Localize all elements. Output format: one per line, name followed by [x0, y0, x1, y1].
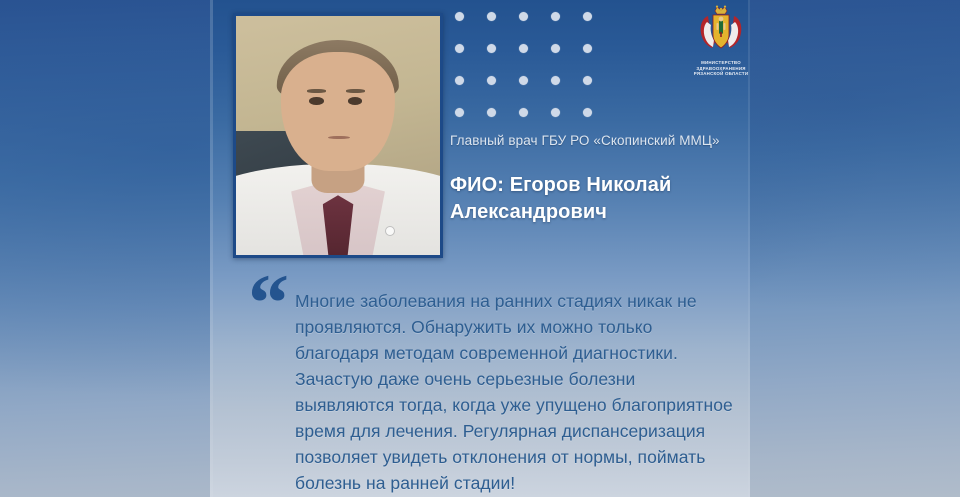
person-name: ФИО: Егоров Николай Александрович — [450, 172, 730, 226]
grid-dot — [551, 44, 560, 53]
grid-dot — [519, 108, 528, 117]
grid-dot — [487, 44, 496, 53]
emblem-line-3: РЯЗАНСКОЙ ОБЛАСТИ — [687, 71, 750, 77]
grid-dot — [583, 108, 592, 117]
grid-dot — [519, 44, 528, 53]
grid-dot — [583, 76, 592, 85]
grid-dot — [551, 12, 560, 21]
portrait-photo-frame — [233, 13, 443, 258]
quote-mark-icon: “ — [248, 262, 287, 344]
grid-dot — [487, 12, 496, 21]
photo-eyebrow-right — [346, 89, 364, 93]
portrait-photo — [236, 16, 440, 255]
grid-dot — [551, 76, 560, 85]
photo-eyebrow-left — [307, 89, 325, 93]
grid-dot — [551, 108, 560, 117]
role-title: Главный врач ГБУ РО «Скопинский ММЦ» — [450, 132, 750, 150]
slide-canvas: МИНИСТЕРСТВО ЗДРАВООХРАНЕНИЯ РЯЗАНСКОЙ О… — [0, 0, 960, 497]
grid-dot — [583, 12, 592, 21]
grid-dot — [455, 44, 464, 53]
grid-dot — [487, 108, 496, 117]
grid-dot — [455, 76, 464, 85]
panel-left-edge — [210, 0, 213, 497]
emblem-text: МИНИСТЕРСТВО ЗДРАВООХРАНЕНИЯ РЯЗАНСКОЙ О… — [687, 60, 750, 77]
grid-dot — [455, 12, 464, 21]
grid-dot — [519, 76, 528, 85]
ministry-emblem: МИНИСТЕРСТВО ЗДРАВООХРАНЕНИЯ РЯЗАНСКОЙ О… — [687, 4, 750, 77]
quote-text: Многие заболевания на ранних стадиях ник… — [295, 288, 735, 496]
coat-of-arms-icon — [691, 4, 750, 58]
grid-dot — [487, 76, 496, 85]
grid-dot — [519, 12, 528, 21]
photo-face — [281, 52, 395, 172]
grid-dot — [455, 108, 464, 117]
dot-grid-decoration — [455, 12, 595, 124]
photo-eye-left — [309, 97, 323, 105]
grid-dot — [583, 44, 592, 53]
content-panel: МИНИСТЕРСТВО ЗДРАВООХРАНЕНИЯ РЯЗАНСКОЙ О… — [210, 0, 750, 497]
